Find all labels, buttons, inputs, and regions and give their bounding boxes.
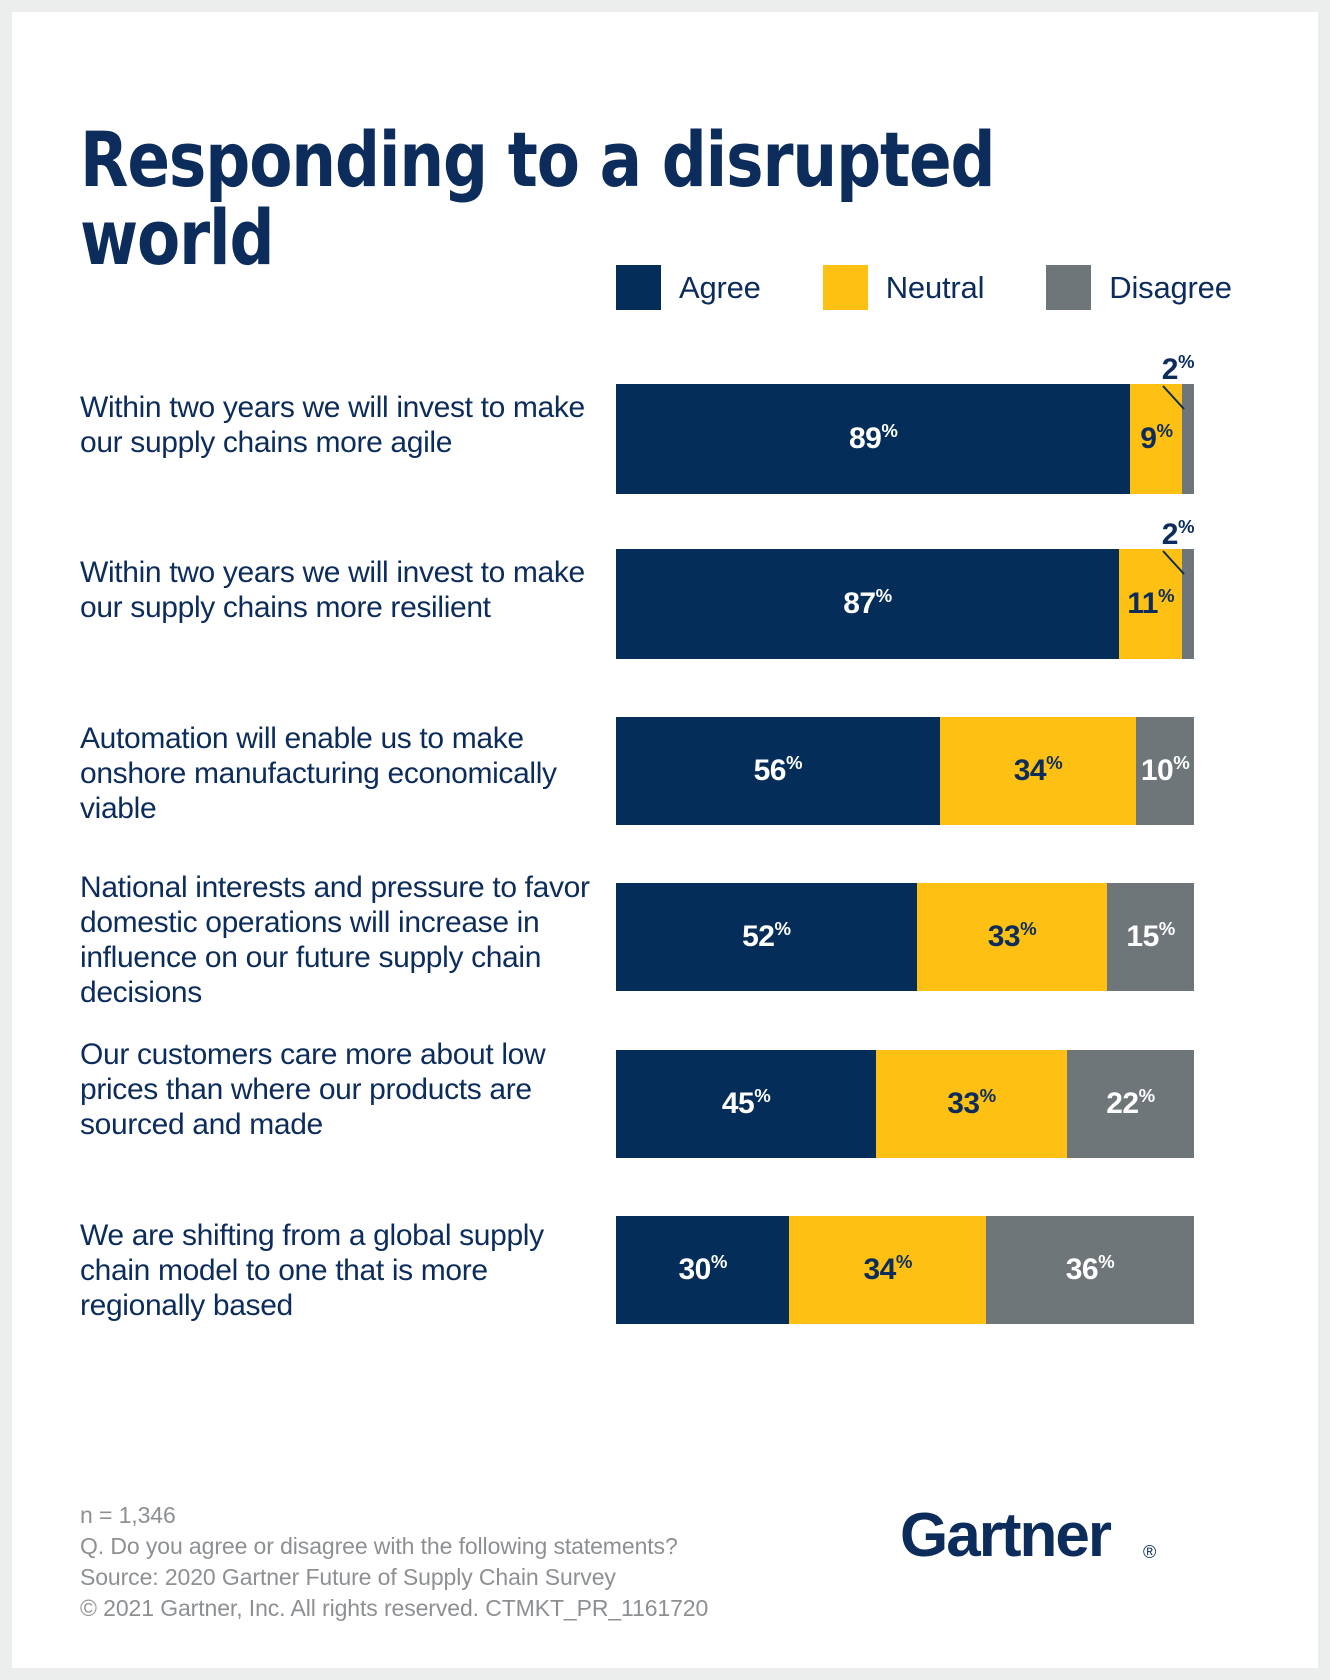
bar-segment-value: 52% xyxy=(742,922,790,952)
stacked-bar: 89%9% xyxy=(616,384,1194,494)
callout-value: 2% xyxy=(1162,520,1194,550)
percent-sign: % xyxy=(754,1085,770,1106)
bar-value-number: 87 xyxy=(843,587,875,620)
bar-segment-value: 22% xyxy=(1106,1089,1154,1119)
bar-value-number: 52 xyxy=(742,920,774,953)
legend-label: Neutral xyxy=(886,270,985,306)
callout-value: 2% xyxy=(1162,355,1194,385)
bar-segment-neutral: 34% xyxy=(789,1216,986,1324)
logo-text: Gartner xyxy=(900,1501,1112,1570)
bar-value-number: 33 xyxy=(988,920,1020,953)
bar-segment-disagree xyxy=(1182,384,1194,494)
bar-value-number: 10 xyxy=(1141,754,1173,787)
percent-sign: % xyxy=(711,1251,727,1272)
statement-label: National interests and pressure to favor… xyxy=(80,870,600,1010)
infographic-card: Responding to a disrupted world AgreeNeu… xyxy=(12,12,1318,1668)
bar-segment-value: 34% xyxy=(863,1255,911,1285)
bar-segment-value: 33% xyxy=(988,922,1036,952)
callout-percent-sign: % xyxy=(1178,516,1194,537)
bar-value-number: 15 xyxy=(1126,920,1158,953)
bar-segment-value: 45% xyxy=(722,1089,770,1119)
gartner-wordmark-svg: Gartner ® xyxy=(900,1496,1200,1576)
callout-number: 2 xyxy=(1162,353,1178,386)
bar-segment-value: 87% xyxy=(843,589,891,619)
percent-sign: % xyxy=(1156,420,1172,441)
bar-value-number: 30 xyxy=(678,1253,710,1286)
stacked-bar: 45%33%22% xyxy=(616,1050,1194,1158)
bar-value-number: 89 xyxy=(849,422,881,455)
footnote-line: n = 1,346 xyxy=(80,1500,780,1531)
bar-value-number: 22 xyxy=(1106,1087,1138,1120)
bar-segment-neutral: 9% xyxy=(1130,384,1182,494)
callout-number: 2 xyxy=(1162,518,1178,551)
percent-sign: % xyxy=(1139,1085,1155,1106)
bar-segment-agree: 56% xyxy=(616,717,940,825)
footnote-line: Source: 2020 Gartner Future of Supply Ch… xyxy=(80,1562,780,1593)
percent-sign: % xyxy=(876,585,892,606)
percent-sign: % xyxy=(1158,585,1174,606)
bar-segment-agree: 45% xyxy=(616,1050,876,1158)
legend-item-disagree: Disagree xyxy=(1046,265,1231,310)
bar-value-number: 33 xyxy=(947,1087,979,1120)
legend-label: Disagree xyxy=(1109,270,1231,306)
statement-label: Automation will enable us to make onshor… xyxy=(80,721,600,826)
bar-segment-value: 11% xyxy=(1127,589,1174,619)
percent-sign: % xyxy=(774,918,790,939)
bar-segment-value: 34% xyxy=(1014,756,1062,786)
statement-label: We are shifting from a global supply cha… xyxy=(80,1218,600,1323)
bar-segment-value: 15% xyxy=(1126,922,1174,952)
bar-segment-value: 89% xyxy=(849,424,897,454)
bar-segment-value: 33% xyxy=(947,1089,995,1119)
legend-swatch-disagree xyxy=(1046,265,1091,310)
bar-value-number: 9 xyxy=(1140,422,1156,455)
bar-segment-value: 9% xyxy=(1140,424,1172,454)
page-title: Responding to a disrupted world xyxy=(80,121,1074,277)
bar-value-number: 34 xyxy=(1014,754,1046,787)
bar-segment-disagree: 15% xyxy=(1107,883,1194,991)
percent-sign: % xyxy=(1020,918,1036,939)
percent-sign: % xyxy=(881,420,897,441)
footnotes: n = 1,346Q. Do you agree or disagree wit… xyxy=(80,1500,780,1624)
legend-label: Agree xyxy=(679,270,761,306)
bar-value-number: 56 xyxy=(754,754,786,787)
stacked-bar: 30%34%36% xyxy=(616,1216,1194,1324)
percent-sign: % xyxy=(1046,752,1062,773)
legend-item-agree: Agree xyxy=(616,265,761,310)
stacked-bar: 56%34%10% xyxy=(616,717,1194,825)
bar-segment-disagree xyxy=(1182,549,1194,659)
legend-item-neutral: Neutral xyxy=(823,265,985,310)
bar-value-number: 11 xyxy=(1127,587,1158,620)
legend-swatch-neutral xyxy=(823,265,868,310)
bar-value-number: 36 xyxy=(1066,1253,1098,1286)
bar-segment-neutral: 33% xyxy=(917,883,1108,991)
bar-segment-disagree: 36% xyxy=(986,1216,1194,1324)
statement-label: Within two years we will invest to make … xyxy=(80,390,600,460)
bar-value-number: 45 xyxy=(722,1087,754,1120)
footnote-line: Q. Do you agree or disagree with the fol… xyxy=(80,1531,780,1562)
statement-label: Within two years we will invest to make … xyxy=(80,555,600,625)
bar-segment-disagree: 10% xyxy=(1136,717,1194,825)
callout-percent-sign: % xyxy=(1178,351,1194,372)
logo-trademark: ® xyxy=(1143,1542,1156,1562)
bar-segment-agree: 87% xyxy=(616,549,1119,659)
percent-sign: % xyxy=(786,752,802,773)
chart-legend: AgreeNeutralDisagree xyxy=(616,265,1232,310)
percent-sign: % xyxy=(1159,918,1175,939)
percent-sign: % xyxy=(1173,752,1189,773)
percent-sign: % xyxy=(980,1085,996,1106)
legend-swatch-agree xyxy=(616,265,661,310)
statement-label: Our customers care more about low prices… xyxy=(80,1037,600,1142)
bar-segment-neutral: 34% xyxy=(940,717,1137,825)
bar-segment-agree: 89% xyxy=(616,384,1130,494)
bar-segment-value: 36% xyxy=(1066,1255,1114,1285)
bar-segment-value: 10% xyxy=(1141,756,1189,786)
bar-segment-neutral: 33% xyxy=(876,1050,1067,1158)
bar-segment-disagree: 22% xyxy=(1067,1050,1194,1158)
bar-segment-agree: 52% xyxy=(616,883,917,991)
bar-segment-value: 56% xyxy=(754,756,802,786)
stacked-bar: 52%33%15% xyxy=(616,883,1194,991)
percent-sign: % xyxy=(1098,1251,1114,1272)
bar-segment-value: 30% xyxy=(678,1255,726,1285)
bar-value-number: 34 xyxy=(863,1253,895,1286)
gartner-logo: Gartner ® xyxy=(900,1496,1200,1576)
bar-segment-agree: 30% xyxy=(616,1216,789,1324)
bar-segment-neutral: 11% xyxy=(1119,549,1183,659)
footnote-line: © 2021 Gartner, Inc. All rights reserved… xyxy=(80,1593,780,1624)
percent-sign: % xyxy=(896,1251,912,1272)
stacked-bar: 87%11% xyxy=(616,549,1194,659)
